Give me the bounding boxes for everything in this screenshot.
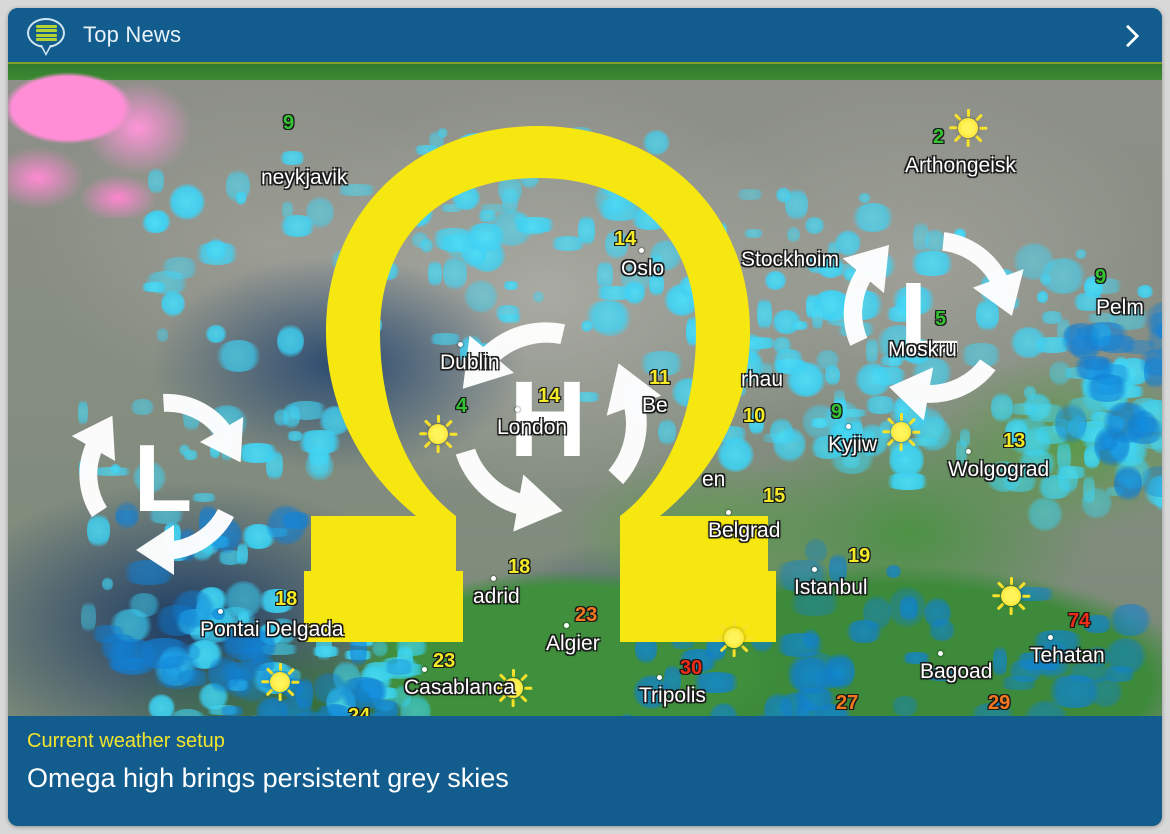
city-dot bbox=[639, 248, 644, 253]
sun-icon bbox=[881, 412, 921, 452]
temperature-label: 9 bbox=[831, 401, 842, 424]
app-header: Top News bbox=[8, 8, 1162, 62]
city-label: Stockhoim bbox=[741, 248, 839, 272]
hamburger-bars bbox=[36, 25, 57, 41]
city-dot bbox=[846, 424, 851, 429]
city-dot bbox=[726, 510, 731, 515]
temperature-label: 18 bbox=[275, 588, 297, 611]
temperature-label: 15 bbox=[763, 485, 785, 508]
city-label: Tehatan bbox=[1030, 644, 1105, 668]
city-dot bbox=[218, 609, 223, 614]
city-label: Belgrad bbox=[708, 519, 780, 543]
city-label: Bagoad bbox=[920, 660, 992, 684]
weather-map[interactable]: L H L 9214951114410913151918182374233027… bbox=[8, 62, 1162, 718]
low-pressure-symbol-atlantic: L bbox=[56, 369, 271, 584]
temperature-label: 9 bbox=[283, 112, 294, 135]
city-label: rhau bbox=[741, 368, 783, 392]
city-dot bbox=[422, 667, 427, 672]
svg-text:L: L bbox=[134, 425, 193, 532]
temperature-label: 74 bbox=[1068, 610, 1090, 633]
sun-icon bbox=[418, 414, 458, 454]
sun-icon bbox=[991, 576, 1031, 616]
city-label: Wolgograd bbox=[948, 458, 1049, 482]
temperature-label: 9 bbox=[1095, 266, 1106, 289]
city-label: Arthongeisk bbox=[905, 154, 1016, 178]
temperature-label: 11 bbox=[649, 367, 670, 390]
temperature-label: 2 bbox=[933, 126, 944, 149]
article-caption[interactable]: Current weather setup Omega high brings … bbox=[8, 716, 1162, 826]
city-label: Pelm bbox=[1096, 296, 1144, 320]
city-label: en bbox=[702, 468, 725, 492]
page-title: Top News bbox=[83, 22, 181, 48]
low-pressure-symbol-russia: L bbox=[818, 204, 1043, 429]
city-label: Istanbul bbox=[794, 576, 868, 600]
temperature-label: 5 bbox=[935, 308, 946, 331]
temperature-label: 23 bbox=[575, 604, 597, 627]
temperature-label: 14 bbox=[614, 228, 636, 251]
temperature-label: 29 bbox=[988, 692, 1010, 715]
sun-icon bbox=[714, 618, 754, 658]
temperature-label: 30 bbox=[680, 657, 702, 680]
city-label: Algier bbox=[546, 632, 600, 656]
city-dot bbox=[1048, 635, 1053, 640]
temperature-label: 23 bbox=[433, 650, 455, 673]
city-dot bbox=[564, 623, 569, 628]
temperature-label: 19 bbox=[848, 545, 870, 568]
temperature-label: 18 bbox=[508, 556, 530, 579]
city-dot bbox=[657, 675, 662, 680]
sun-icon bbox=[948, 108, 988, 148]
city-dot bbox=[515, 407, 520, 412]
city-label: London bbox=[497, 416, 567, 440]
temperature-label: 27 bbox=[836, 692, 858, 715]
city-label: adrid bbox=[473, 585, 520, 609]
news-card: Top News L bbox=[8, 8, 1162, 826]
bubble-tail bbox=[40, 45, 52, 56]
speech-bubble-menu-icon[interactable] bbox=[27, 18, 67, 52]
caption-headline: Omega high brings persistent grey skies bbox=[27, 763, 1162, 794]
temperature-label: 4 bbox=[456, 395, 467, 418]
city-dot bbox=[938, 651, 943, 656]
city-label: neykjavik bbox=[261, 166, 347, 190]
city-label: Moskru bbox=[888, 338, 957, 362]
temperature-label: 14 bbox=[538, 385, 560, 408]
city-label: Tripolis bbox=[639, 684, 706, 708]
caption-kicker: Current weather setup bbox=[27, 730, 1162, 753]
city-label: Kyjiw bbox=[828, 433, 877, 457]
city-dot bbox=[966, 449, 971, 454]
city-label: Dublin bbox=[440, 351, 500, 375]
city-dot bbox=[458, 342, 463, 347]
chevron-right-icon[interactable] bbox=[1120, 27, 1136, 43]
city-label: Oslo bbox=[621, 257, 664, 281]
temperature-label: 13 bbox=[1003, 430, 1025, 453]
city-dot bbox=[491, 576, 496, 581]
sun-icon bbox=[260, 662, 300, 702]
city-label: Pontai Delgada bbox=[200, 618, 344, 642]
city-label: Casablanca bbox=[404, 676, 515, 700]
city-dot bbox=[812, 567, 817, 572]
city-label: Be bbox=[642, 394, 668, 418]
temperature-label: 10 bbox=[743, 405, 765, 428]
